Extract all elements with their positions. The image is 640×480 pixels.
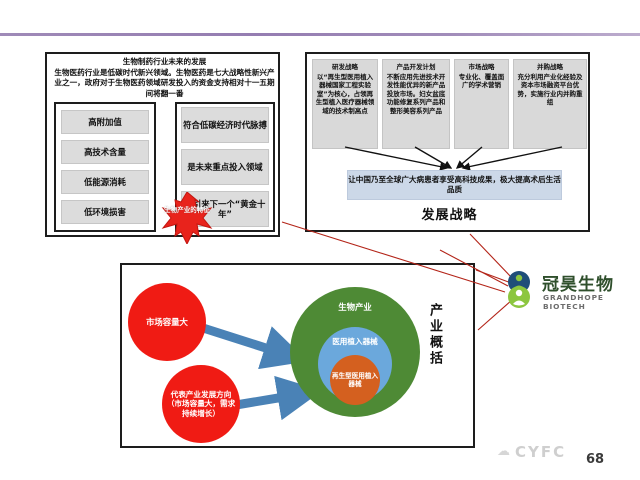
strategy-heading: 市场战略 [457, 63, 506, 72]
characteristic-chip: 低环境损害 [61, 200, 149, 224]
slide-canvas: 生物制药行业未来的发展 生物医药行业是低碳时代新兴领域。生物医药是七大战略性新兴… [0, 0, 640, 480]
strategy-body: 不断应用先进技术开发性能优异的新产品投放市场。妇女盆底功能修复系列产品和整形美容… [387, 73, 446, 115]
panel-title-development-strategy: 发展战略 [307, 204, 592, 223]
cloud-icon: ☁ [497, 444, 512, 459]
strategy-heading: 产品开发计划 [385, 63, 447, 72]
page-number: 68 [586, 452, 604, 467]
logo-name-cn: 冠昊生物 [542, 270, 614, 295]
strategy-card: 研发战略 以“再生型医用植入器械国家工程实验室”为核心，占领再生型植入医疗器械领… [312, 59, 378, 149]
characteristic-chip: 是未来重点投入领域 [181, 149, 269, 185]
industry-overview-panel: 市场容量大 代表产业发展方向（市场容量大，需求持续增长） 生物产业 医用植入器械… [120, 263, 475, 448]
driver-circle: 市场容量大 [128, 283, 206, 361]
starburst-callout: 生物产业的特征 [159, 192, 215, 244]
panel-lead-text: 生物制药行业未来的发展 生物医药行业是低碳时代新兴领域。生物医药是七大战略性新兴… [51, 57, 278, 99]
strategy-heading: 研发战略 [315, 63, 375, 72]
starburst-shape-icon [159, 192, 215, 244]
strategy-body: 专业化、覆盖面广的学术营销 [459, 73, 505, 90]
strategy-body: 以“再生型医用植入器械国家工程实验室”为核心，占领再生型植入医疗器械领域的技术制… [316, 73, 375, 115]
development-strategy-panel: 研发战略 以“再生型医用植入器械国家工程实验室”为核心，占领再生型植入医疗器械领… [305, 52, 590, 232]
lead-body: 生物医药行业是低碳时代新兴领域。生物医药是七大战略性新兴产业之一，政府对于生物医… [54, 68, 274, 98]
logo-name-en: GRANDHOPE BIOTECH [543, 293, 636, 311]
characteristic-chip: 高附加值 [61, 110, 149, 134]
vision-banner: 让中国乃至全球广大病患者享受高科技成果，极大提高术后生活品质 [347, 170, 562, 200]
characteristics-left-box: 高附加值 高技术含量 低能源消耗 低环境损害 [54, 102, 156, 232]
driver-circle: 代表产业发展方向（市场容量大，需求持续增长） [162, 365, 240, 443]
strategy-body: 充分利用产业化经验及资本市场融资平台优势，实施行业内并购重组 [518, 73, 583, 107]
venn-label-outer: 生物产业 [338, 301, 372, 313]
strategy-card: 产品开发计划 不断应用先进技术开发性能优异的新产品投放市场。妇女盆底功能修复系列… [382, 59, 450, 149]
strategy-heading: 并购战略 [516, 63, 584, 72]
venn-label-inner: 再生型医用植入器械 [330, 372, 380, 388]
strategy-card: 市场战略 专业化、覆盖面广的学术营销 [454, 59, 509, 149]
characteristic-chip: 高技术含量 [61, 140, 149, 164]
strategy-card: 并购战略 充分利用产业化经验及资本市场融资平台优势，实施行业内并购重组 [513, 59, 587, 149]
venn-circle-inner: 再生型医用植入器械 [330, 355, 380, 405]
panel-title-industry-overview: 产业概括 [422, 303, 444, 367]
top-divider-rule [0, 33, 640, 36]
watermark-text: CYFC [515, 443, 566, 461]
characteristic-chip: 低能源消耗 [61, 170, 149, 194]
starburst-label: 生物产业的特征 [159, 206, 215, 215]
characteristic-chip: 符合低碳经济时代脉搏 [181, 107, 269, 143]
venn-label-middle: 医用植入器械 [332, 336, 378, 347]
company-logo: 冠昊生物 GRANDHOPE BIOTECH [500, 268, 636, 312]
grandhope-logo-icon [500, 270, 538, 310]
industry-development-panel: 生物制药行业未来的发展 生物医药行业是低碳时代新兴领域。生物医药是七大战略性新兴… [45, 52, 280, 237]
lead-title: 生物制药行业未来的发展 [51, 57, 278, 68]
